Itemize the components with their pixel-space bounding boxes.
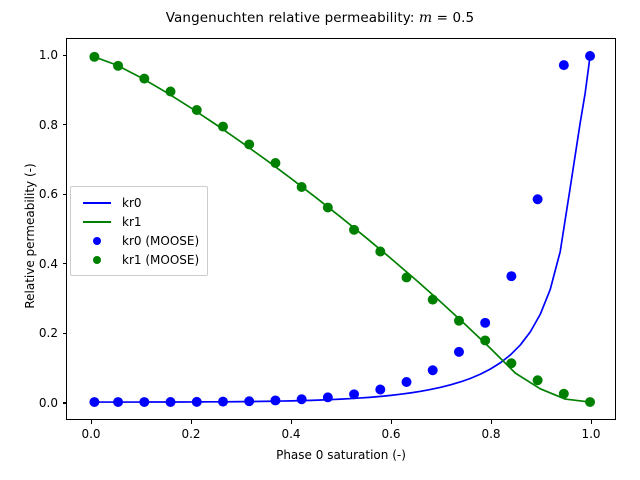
x-tick-label: 1.0 [581, 427, 600, 441]
y-tick-label: 0.0 [6, 396, 58, 410]
x-tick-mark [91, 420, 92, 424]
data-point [270, 395, 280, 405]
x-tick-mark [391, 420, 392, 424]
data-point [480, 335, 490, 345]
data-point [428, 295, 438, 305]
x-tick-mark [491, 420, 492, 424]
x-tick-label: 0.4 [281, 427, 300, 441]
legend-item: kr0 [78, 193, 199, 212]
data-point [192, 105, 202, 115]
legend-item-label: kr1 (MOOSE) [116, 253, 199, 267]
chart-title-prefix: Vangenuchten relative permeability: [166, 10, 419, 26]
legend-item: kr1 (MOOSE) [78, 250, 199, 269]
data-point [166, 397, 176, 407]
data-point [192, 397, 202, 407]
dot-icon [93, 256, 101, 264]
data-point [218, 122, 228, 132]
data-point [139, 397, 149, 407]
line-icon [83, 221, 111, 223]
y-tick-label: 1.0 [6, 48, 58, 62]
data-point [402, 377, 412, 387]
y-tick-mark [63, 194, 67, 195]
data-point [297, 394, 307, 404]
data-point [270, 158, 280, 168]
data-point [166, 86, 176, 96]
data-point [349, 225, 359, 235]
y-tick-mark [63, 263, 67, 264]
y-axis-label: Relative permeability (-) [23, 136, 37, 336]
data-point [375, 385, 385, 395]
legend-item: kr1 [78, 212, 199, 231]
x-tick-label: 0.6 [381, 427, 400, 441]
legend-marker-swatch [78, 256, 116, 264]
data-point [349, 389, 359, 399]
x-tick-label: 0.8 [481, 427, 500, 441]
data-point [454, 316, 464, 326]
data-point [533, 194, 543, 204]
data-point [297, 182, 307, 192]
data-point [559, 389, 569, 399]
legend-item-label: kr1 [116, 215, 142, 229]
data-point [506, 358, 516, 368]
chart-title-math-rest: = 0.5 [432, 10, 474, 26]
data-point [113, 61, 123, 71]
data-point [244, 396, 254, 406]
legend-item-label: kr0 [116, 196, 142, 210]
chart-legend: kr0kr1kr0 (MOOSE)kr1 (MOOSE) [70, 186, 208, 276]
x-tick-mark [191, 420, 192, 424]
legend-line-swatch [78, 221, 116, 223]
data-point [244, 139, 254, 149]
data-point [506, 271, 516, 281]
x-tick-label: 0.2 [181, 427, 200, 441]
data-point [428, 365, 438, 375]
data-point [218, 397, 228, 407]
legend-marker-swatch [78, 237, 116, 245]
legend-line-swatch [78, 202, 116, 204]
y-tick-mark [63, 402, 67, 403]
data-point [454, 347, 464, 357]
y-tick-label: 0.8 [6, 118, 58, 132]
x-tick-mark [591, 420, 592, 424]
data-point [559, 60, 569, 70]
x-tick-mark [291, 420, 292, 424]
y-tick-mark [63, 333, 67, 334]
legend-item-label: kr0 (MOOSE) [116, 234, 199, 248]
y-tick-mark [63, 124, 67, 125]
data-point [533, 375, 543, 385]
data-point [375, 247, 385, 257]
x-tick-label: 0.0 [81, 427, 100, 441]
data-point [585, 51, 595, 61]
data-point [480, 318, 490, 328]
y-tick-mark [63, 55, 67, 56]
chart-title: Vangenuchten relative permeability: m = … [0, 10, 640, 26]
line-icon [83, 202, 111, 204]
data-point [89, 52, 99, 62]
data-point [402, 272, 412, 282]
legend-item: kr0 (MOOSE) [78, 231, 199, 250]
chart-title-math-variable: m [419, 10, 432, 26]
chart-figure: Vangenuchten relative permeability: m = … [0, 0, 640, 480]
data-point [323, 392, 333, 402]
data-point [323, 203, 333, 213]
data-point [113, 397, 123, 407]
data-point [585, 397, 595, 407]
x-axis-label: Phase 0 saturation (-) [66, 448, 616, 462]
data-point [89, 397, 99, 407]
data-point [139, 74, 149, 84]
dot-icon [93, 237, 101, 245]
